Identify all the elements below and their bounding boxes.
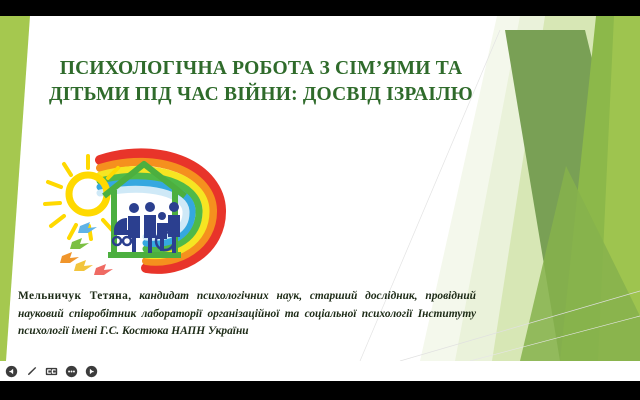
right-muted-green-polygon <box>505 30 640 361</box>
bird-orange <box>60 252 79 263</box>
birds-icon <box>60 222 113 275</box>
bird-green <box>70 238 89 249</box>
slide-title-block: ПСИХОЛОГІЧНА РОБОТА З СІМ’ЯМИ ТА ДІТЬМИ … <box>26 56 496 108</box>
more-options-button[interactable] <box>64 364 78 378</box>
page-title: ПСИХОЛОГІЧНА РОБОТА З СІМ’ЯМИ ТА ДІТЬМИ … <box>26 56 496 108</box>
author-name: Мельничук Тетяна, <box>18 290 131 302</box>
right-light-green-polygon <box>598 16 640 361</box>
slide-canvas: ПСИХОЛОГІЧНА РОБОТА З СІМ’ЯМИ ТА ДІТЬМИ … <box>0 16 640 361</box>
pencil-icon <box>25 365 38 378</box>
bird-red <box>94 264 113 275</box>
author-credentials: Мельничук Тетяна, кандидат психологічних… <box>18 288 476 341</box>
rainbow-house-family-logo-icon <box>28 138 242 278</box>
circle-ellipsis-icon <box>65 365 78 378</box>
right-bright-green-polygon <box>560 16 640 361</box>
circle-forward-arrow-icon <box>85 365 98 378</box>
presentation-viewer: ПСИХОЛОГІЧНА РОБОТА З СІМ’ЯМИ ТА ДІТЬМИ … <box>0 0 640 400</box>
annotate-button[interactable] <box>24 364 38 378</box>
author-block: Мельничук Тетяна, кандидат психологічних… <box>18 288 476 341</box>
next-button[interactable] <box>84 364 98 378</box>
closed-captions-icon <box>45 365 58 378</box>
right-overlay-green-polygon <box>520 166 640 361</box>
bird-yellow <box>74 260 93 271</box>
logo <box>28 138 242 278</box>
right-pale-green-polygon <box>492 16 640 361</box>
circle-back-arrow-icon <box>5 365 18 378</box>
bird-blue <box>78 222 97 233</box>
previous-button[interactable] <box>4 364 18 378</box>
hairline-3 <box>470 316 640 361</box>
top-letterbox-bar <box>0 0 640 16</box>
player-toolbar <box>0 361 640 381</box>
captions-button[interactable] <box>44 364 58 378</box>
rainbow-arc <box>100 153 221 269</box>
bottom-letterbox-bar <box>0 381 640 400</box>
